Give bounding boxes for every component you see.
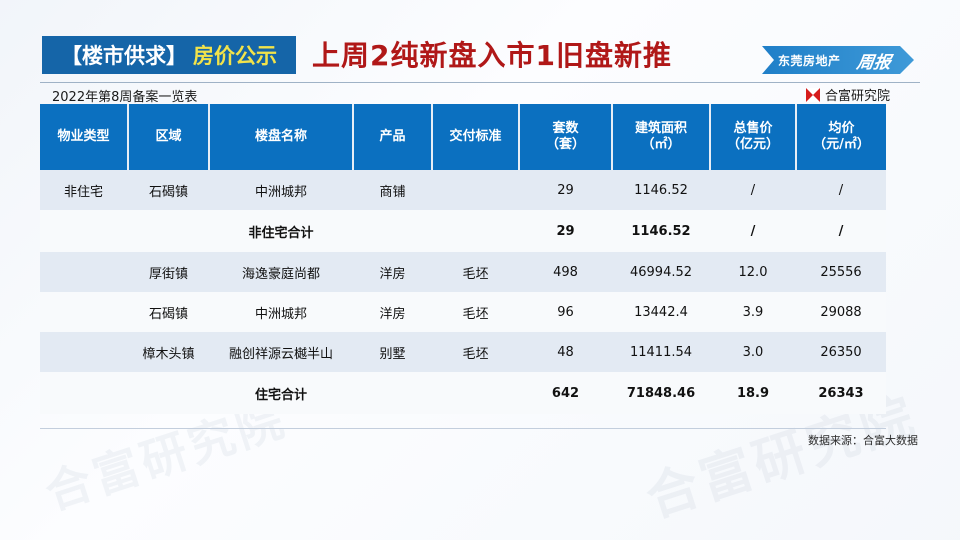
table-row: 非住宅合计291146.52// — [40, 210, 886, 252]
cell-avg-price: 26350 — [796, 332, 886, 372]
data-table-container: 物业类型 区域 楼盘名称 产品 交付标准 套数 — [40, 104, 886, 414]
cell-district: 石碣镇 — [128, 170, 209, 210]
cell-district: 樟木头镇 — [128, 332, 209, 372]
cell-delivery-standard — [432, 170, 519, 210]
cell-floor-area: 71848.46 — [612, 372, 710, 414]
col-header-line2: （亿元） — [713, 137, 793, 153]
cell-product — [353, 210, 432, 252]
brand-name-small: 合富研究院 — [825, 85, 890, 104]
publication-cursive-label: 周报 — [855, 48, 893, 73]
cell-product: 洋房 — [353, 292, 432, 332]
col-header-delivery-standard: 交付标准 — [432, 104, 519, 170]
col-header-district: 区域 — [128, 104, 209, 170]
cell-avg-price: / — [796, 210, 886, 252]
table-row: 住宅合计64271848.4618.926343 — [40, 372, 886, 414]
cell-project-name: 融创祥源云樾半山 — [209, 332, 353, 372]
table-bottom-divider — [40, 428, 886, 429]
cell-avg-price: 25556 — [796, 252, 886, 292]
cell-floor-area: 1146.52 — [612, 210, 710, 252]
col-header-line2: （㎡） — [615, 137, 707, 153]
col-header-avg-price: 均价 （元/㎡） — [796, 104, 886, 170]
cell-total-price: 12.0 — [710, 252, 796, 292]
cell-product: 洋房 — [353, 252, 432, 292]
slide-header: 【楼市供求】 房价公示 上周2纯新盘入市1旧盘新推 东莞房地产 周报 — [0, 0, 960, 78]
cell-units: 642 — [519, 372, 612, 414]
col-header-project-name: 楼盘名称 — [209, 104, 353, 170]
col-header-floor-area: 建筑面积 （㎡） — [612, 104, 710, 170]
cell-units: 498 — [519, 252, 612, 292]
cell-product — [353, 372, 432, 414]
col-header-units: 套数 （套） — [519, 104, 612, 170]
cell-project-name: 中洲城邦 — [209, 170, 353, 210]
cell-property-type: 非住宅 — [40, 170, 128, 210]
table-body: 非住宅石碣镇中洲城邦商铺291146.52//非住宅合计291146.52//厚… — [40, 170, 886, 414]
cell-district: 石碣镇 — [128, 292, 209, 332]
table-row: 非住宅石碣镇中洲城邦商铺291146.52// — [40, 170, 886, 210]
source-note: 数据来源：合富大数据 — [808, 432, 918, 448]
cell-units: 48 — [519, 332, 612, 372]
topic-badge: 【楼市供求】 房价公示 — [42, 36, 296, 74]
cell-floor-area: 46994.52 — [612, 252, 710, 292]
brand-mark-small: 合富研究院 — [806, 85, 890, 104]
cell-total-price: 18.9 — [710, 372, 796, 414]
cell-units: 96 — [519, 292, 612, 332]
col-header-line1: 建筑面积 — [615, 121, 707, 137]
cell-delivery-standard: 毛坯 — [432, 332, 519, 372]
col-header-product: 产品 — [353, 104, 432, 170]
cell-total-price: / — [710, 210, 796, 252]
hourglass-logo-icon — [806, 88, 820, 102]
table-header-row: 物业类型 区域 楼盘名称 产品 交付标准 套数 — [40, 104, 886, 170]
cell-floor-area: 1146.52 — [612, 170, 710, 210]
cell-project-name: 海逸豪庭尚都 — [209, 252, 353, 292]
page-title: 上周2纯新盘入市1旧盘新推 — [312, 34, 672, 74]
publication-label: 东莞房地产 — [778, 52, 841, 69]
cell-floor-area: 13442.4 — [612, 292, 710, 332]
cell-property-type — [40, 372, 128, 414]
col-header-line1: 均价 — [799, 121, 884, 137]
cell-project-name: 住宅合计 — [209, 372, 353, 414]
cell-district — [128, 210, 209, 252]
col-header-line1: 区域 — [131, 129, 206, 145]
publication-banner: 东莞房地产 周报 — [762, 46, 914, 74]
cell-property-type — [40, 292, 128, 332]
cell-property-type — [40, 332, 128, 372]
cell-delivery-standard — [432, 372, 519, 414]
cell-district — [128, 372, 209, 414]
col-header-line1: 套数 — [522, 121, 609, 137]
table-caption: 2022年第8周备案一览表 — [52, 86, 197, 105]
col-header-line1: 总售价 — [713, 121, 793, 137]
cell-units: 29 — [519, 210, 612, 252]
cell-avg-price: 26343 — [796, 372, 886, 414]
header-divider — [40, 82, 920, 83]
col-header-line1: 产品 — [356, 129, 429, 145]
cell-project-name: 非住宅合计 — [209, 210, 353, 252]
col-header-line1: 楼盘名称 — [212, 129, 350, 145]
table-row: 樟木头镇融创祥源云樾半山别墅毛坯4811411.543.026350 — [40, 332, 886, 372]
topic-badge-bracket: 【楼市供求】 — [61, 40, 187, 70]
cell-product: 商铺 — [353, 170, 432, 210]
col-header-line1: 物业类型 — [42, 129, 125, 145]
cell-avg-price: / — [796, 170, 886, 210]
topic-badge-highlight: 房价公示 — [193, 40, 277, 70]
cell-delivery-standard — [432, 210, 519, 252]
cell-total-price: 3.9 — [710, 292, 796, 332]
col-header-total-price: 总售价 （亿元） — [710, 104, 796, 170]
cell-property-type — [40, 252, 128, 292]
filing-overview-table: 物业类型 区域 楼盘名称 产品 交付标准 套数 — [40, 104, 887, 414]
cell-district: 厚街镇 — [128, 252, 209, 292]
table-row: 石碣镇中洲城邦洋房毛坯9613442.43.929088 — [40, 292, 886, 332]
col-header-line1: 交付标准 — [435, 129, 516, 145]
cell-delivery-standard: 毛坯 — [432, 292, 519, 332]
col-header-line2: （套） — [522, 137, 609, 153]
cell-property-type — [40, 210, 128, 252]
cell-avg-price: 29088 — [796, 292, 886, 332]
cell-floor-area: 11411.54 — [612, 332, 710, 372]
table-row: 厚街镇海逸豪庭尚都洋房毛坯49846994.5212.025556 — [40, 252, 886, 292]
col-header-line2: （元/㎡） — [799, 137, 884, 153]
cell-total-price: / — [710, 170, 796, 210]
cell-project-name: 中洲城邦 — [209, 292, 353, 332]
cell-units: 29 — [519, 170, 612, 210]
cell-total-price: 3.0 — [710, 332, 796, 372]
cell-delivery-standard: 毛坯 — [432, 252, 519, 292]
col-header-property-type: 物业类型 — [40, 104, 128, 170]
cell-product: 别墅 — [353, 332, 432, 372]
